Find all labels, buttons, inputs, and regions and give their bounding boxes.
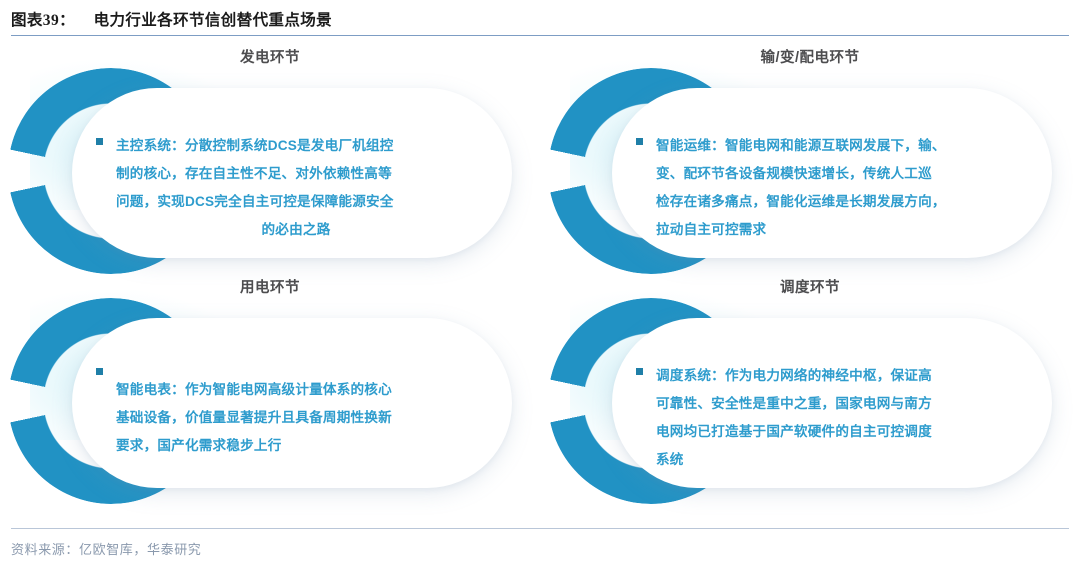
bullet-square-icon: [96, 138, 103, 145]
card-body-text: 智能电表：作为智能电网高级计量体系的核心 基础设备，价值量显著提升且具备周期性换…: [116, 376, 476, 460]
figure-header: 图表39： 电力行业各环节信创替代重点场景: [0, 0, 1080, 37]
card-panel: 调度系统：作为电力网络的神经中枢，保证高 可靠性、安全性是重中之重，国家电网与南…: [612, 318, 1052, 488]
card-power-generation: 发电环节 主控系统：分散控制系统DCS是发电厂机组控 制的核心，存在自主性不足、…: [0, 46, 540, 276]
card-panel: 智能电表：作为智能电网高级计量体系的核心 基础设备，价值量显著提升且具备周期性换…: [72, 318, 512, 488]
card-heading: 调度环节: [540, 276, 1080, 297]
card-text-line: 基础设备，价值量显著提升且具备周期性换新: [116, 404, 476, 432]
card-text-line: 主控系统：分散控制系统DCS是发电厂机组控: [116, 132, 476, 160]
bullet-square-icon: [636, 368, 643, 375]
card-text-line: 拉动自主可控需求: [656, 216, 1016, 244]
card-panel: 主控系统：分散控制系统DCS是发电厂机组控 制的核心，存在自主性不足、对外依赖性…: [72, 88, 512, 258]
card-electricity-consumption: 用电环节 智能电表：作为智能电网高级计量体系的核心 基础设备，价值量显著提升且具…: [0, 276, 540, 506]
footer-divider: [11, 528, 1069, 529]
card-text-line: 电网均已打造基于国产软硬件的自主可控调度: [656, 418, 1016, 446]
card-text-line: 的必由之路: [116, 216, 476, 244]
card-text-line: 变、配环节各设备规模快速增长，传统人工巡: [656, 160, 1016, 188]
figure-label: 图表39：: [11, 12, 75, 29]
header-divider: [11, 35, 1069, 36]
bullet-square-icon: [96, 368, 103, 375]
card-heading: 输/变/配电环节: [540, 46, 1080, 67]
card-text-line: 可靠性、安全性是重中之重，国家电网与南方: [656, 390, 1016, 418]
card-body-text: 主控系统：分散控制系统DCS是发电厂机组控 制的核心，存在自主性不足、对外依赖性…: [116, 132, 476, 244]
card-text-line: 系统: [656, 446, 1016, 474]
diagram-canvas: 发电环节 主控系统：分散控制系统DCS是发电厂机组控 制的核心，存在自主性不足、…: [0, 40, 1080, 526]
figure-title-text: 电力行业各环节信创替代重点场景: [94, 12, 333, 29]
card-panel: 智能运维：智能电网和能源互联网发展下，输、 变、配环节各设备规模快速增长，传统人…: [612, 88, 1052, 258]
bullet-square-icon: [636, 138, 643, 145]
card-text-line: 智能电表：作为智能电网高级计量体系的核心: [116, 376, 476, 404]
card-body-text: 调度系统：作为电力网络的神经中枢，保证高 可靠性、安全性是重中之重，国家电网与南…: [656, 362, 1016, 474]
figure-page: { "figure": { "label": "图表39：", "title":…: [0, 0, 1080, 567]
page-title: 图表39： 电力行业各环节信创替代重点场景: [11, 8, 332, 30]
source-note: 资料来源：亿欧智库，华泰研究: [11, 539, 201, 558]
card-transmission-distribution: 输/变/配电环节 智能运维：智能电网和能源互联网发展下，输、 变、配环节各设备规…: [540, 46, 1080, 276]
card-dispatch: 调度环节 调度系统：作为电力网络的神经中枢，保证高 可靠性、安全性是重中之重，国…: [540, 276, 1080, 506]
card-text-line: 要求，国产化需求稳步上行: [116, 432, 476, 460]
card-heading: 用电环节: [0, 276, 540, 297]
card-text-line: 问题，实现DCS完全自主可控是保障能源安全: [116, 188, 476, 216]
card-text-line: 智能运维：智能电网和能源互联网发展下，输、: [656, 132, 1016, 160]
card-text-line: 调度系统：作为电力网络的神经中枢，保证高: [656, 362, 1016, 390]
card-text-line: 检存在诸多痛点，智能化运维是长期发展方向，: [656, 188, 1016, 216]
card-body-text: 智能运维：智能电网和能源互联网发展下，输、 变、配环节各设备规模快速增长，传统人…: [656, 132, 1016, 244]
card-text-line: 制的核心，存在自主性不足、对外依赖性高等: [116, 160, 476, 188]
card-heading: 发电环节: [0, 46, 540, 67]
